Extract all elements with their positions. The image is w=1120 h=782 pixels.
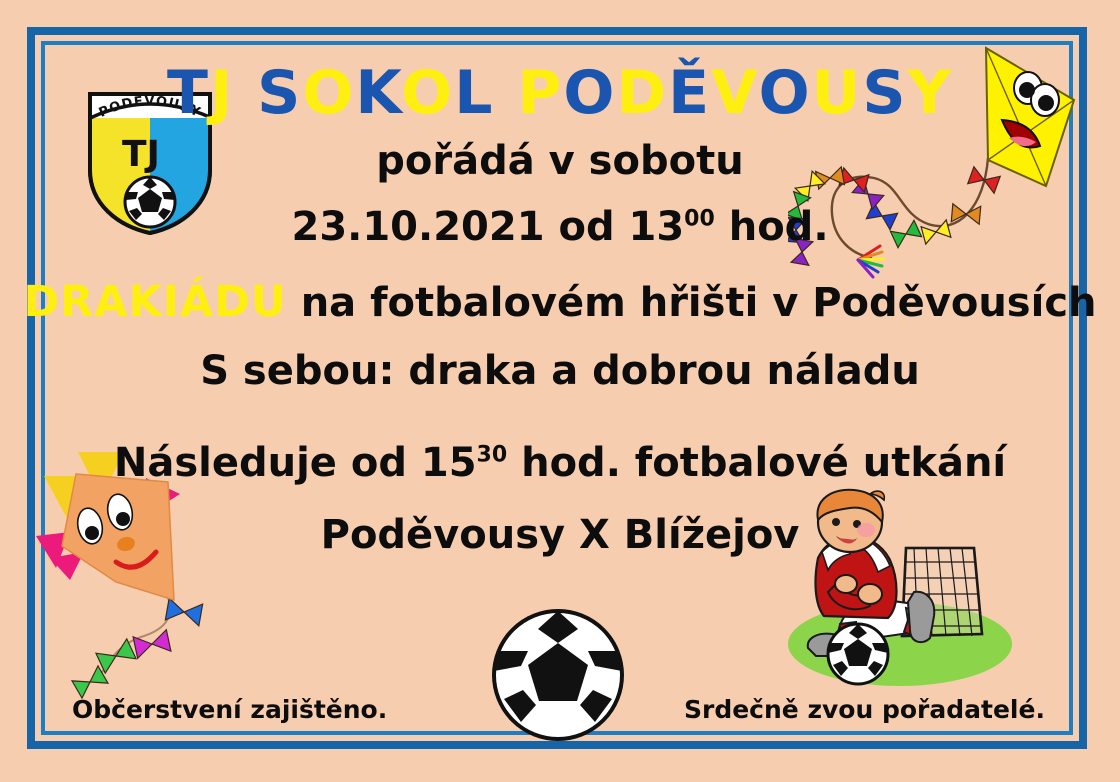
line-event: DRAKIÁDU na fotbalovém hřišti v Poděvous… [0,277,1120,327]
title-letter-3: S [257,58,302,128]
date-minutes: 00 [684,207,715,232]
title-letter-6: O [401,58,454,128]
page-title: TJ SOKOL PODĚVOUSY [0,63,1120,123]
title-letter-15: U [812,58,863,128]
followup-main: Následuje od 15 [114,440,477,486]
title-letter-10: O [563,58,616,128]
followup-minutes: 30 [477,443,508,468]
followup-tail: hod. fotbalové utkání [507,440,1006,486]
title-letter-13: V [711,58,758,128]
title-letter-5: K [355,58,401,128]
event-highlight: DRAKIÁDU [23,277,286,327]
title-letter-12: Ě [668,58,711,128]
title-letter-9: P [517,58,563,128]
title-letter-2 [234,58,257,128]
line-bring: S sebou: draka a dobrou náladu [0,348,1120,394]
line-followup: Následuje od 1530 hod. fotbalové utkání [0,440,1120,486]
poster-canvas: PODĚVOUSY TJ [0,0,1120,782]
title-letter-7: L [454,58,494,128]
footer-refreshments: Občerstvení zajištěno. [72,695,387,724]
title-letter-11: D [616,58,668,128]
title-letter-1: J [210,58,234,128]
line-date: 23.10.2021 od 1300 hod. [0,204,1120,250]
poster-text-content: TJ SOKOL PODĚVOUSY pořádá v sobotu 23.10… [0,0,1120,782]
line-organizes: pořádá v sobotu [0,138,1120,184]
line-match: Poděvousy X Blížejov [0,512,1120,558]
title-letter-8 [494,58,517,128]
date-tail: hod. [715,204,829,250]
title-letter-0: T [167,58,210,128]
title-letter-14: O [759,58,812,128]
event-rest: na fotbalovém hřišti v Poděvousích [287,280,1097,326]
title-letter-16: S [862,58,907,128]
title-letter-17: Y [908,58,953,128]
title-letter-4: O [302,58,355,128]
date-main: 23.10.2021 od 13 [291,204,684,250]
footer-invitation: Srdečně zvou pořadatelé. [684,695,1045,724]
